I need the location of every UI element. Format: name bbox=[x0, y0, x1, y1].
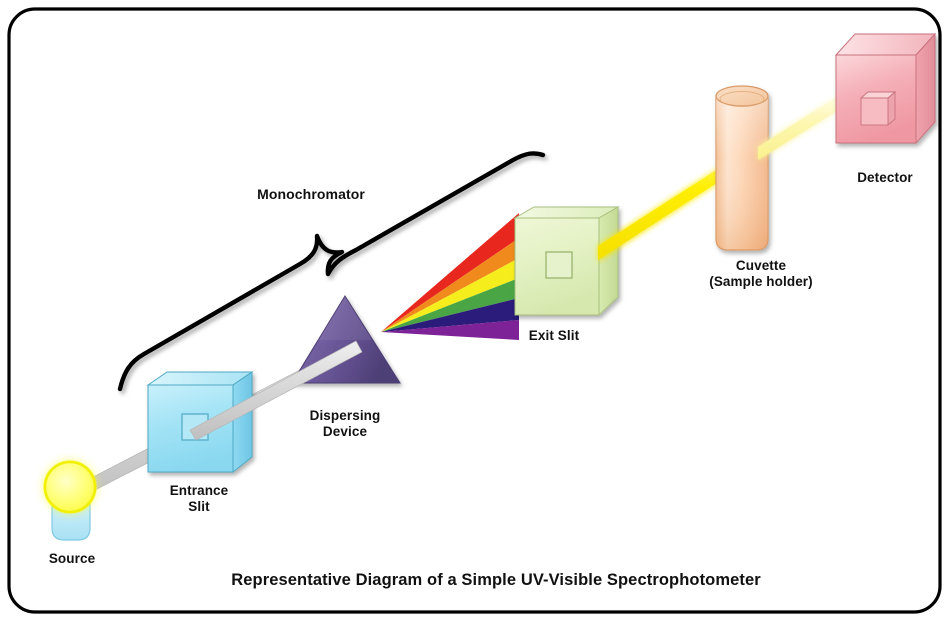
detector-component bbox=[836, 34, 935, 143]
detector-sensor-face bbox=[861, 98, 888, 125]
prism-highlight bbox=[318, 296, 372, 340]
diagram-canvas: Source Entrance Slit Dispersing Device M… bbox=[0, 0, 952, 624]
exit-slit-component bbox=[515, 207, 618, 315]
transmitted-beam bbox=[758, 92, 843, 161]
exit-slit-label: Exit Slit bbox=[492, 328, 616, 344]
entrance-slit-component bbox=[148, 372, 252, 472]
dispersing-device-label: Dispersing Device bbox=[280, 408, 410, 441]
exit-slit-aperture bbox=[546, 252, 572, 278]
diagram-title: Representative Diagram of a Simple UV-Vi… bbox=[146, 570, 846, 590]
spectrophotometer-diagram bbox=[0, 0, 952, 624]
detector-label: Detector bbox=[820, 170, 950, 186]
cuvette-component bbox=[716, 86, 768, 250]
source-component bbox=[43, 460, 97, 540]
dispersed-spectrum-beam bbox=[381, 213, 519, 340]
cuvette-label: Cuvette (Sample holder) bbox=[670, 258, 852, 291]
entrance-slit-label: Entrance Slit bbox=[140, 483, 258, 516]
exit-slit-right-face bbox=[599, 207, 618, 315]
source-label: Source bbox=[20, 551, 124, 567]
lamp-bulb bbox=[45, 462, 95, 512]
cuvette-body-shading bbox=[716, 96, 768, 250]
entrance-slit-right-face bbox=[233, 372, 252, 472]
detector-sensor-side bbox=[888, 92, 895, 125]
monochromator-label: Monochromator bbox=[218, 186, 404, 203]
